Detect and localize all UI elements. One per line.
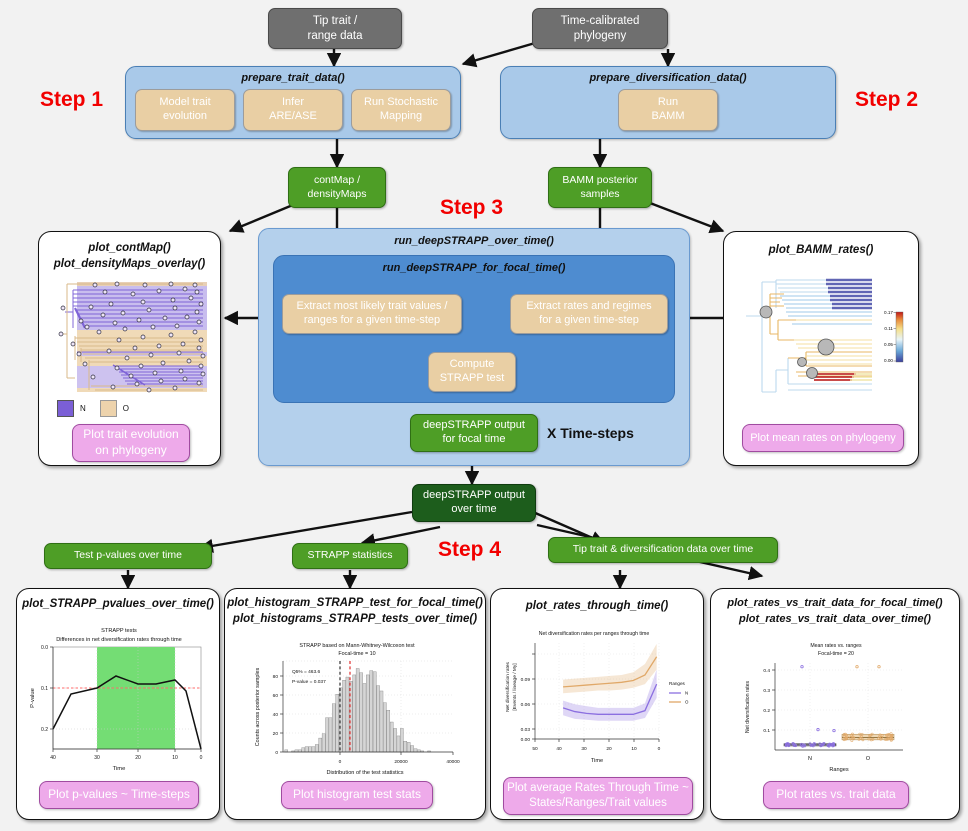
step-3-label: Step 3 xyxy=(440,196,503,220)
run-stochastic-mapping-box[interactable]: Run Stochastic Mapping xyxy=(351,89,451,131)
x-timesteps-label: X Time-steps xyxy=(547,425,634,441)
legend-label-n: N xyxy=(80,404,86,413)
prepare-diversification-data-group[interactable]: prepare_diversification_data() Run BAMM xyxy=(500,66,836,139)
svg-text:0.4: 0.4 xyxy=(763,668,770,674)
deepstrapp-focal-output-box[interactable]: deepSTRAPP output for focal time xyxy=(410,414,538,452)
svg-text:0.00: 0.00 xyxy=(521,737,531,743)
extract-trait-values-box[interactable]: Extract most likely trait values / range… xyxy=(282,294,462,334)
legend-swatch-n xyxy=(57,400,74,417)
svg-text:O: O xyxy=(685,700,689,705)
card-plot-contmap[interactable]: plot_contMap() plot_densityMaps_overlay(… xyxy=(38,231,221,466)
svg-text:0.2: 0.2 xyxy=(41,727,48,733)
histogram-annotation-2: P-value = 0.037 xyxy=(292,679,326,685)
svg-text:10: 10 xyxy=(172,755,178,761)
svg-text:0.3: 0.3 xyxy=(763,688,770,694)
prepare-trait-data-title: prepare_trait_data() xyxy=(126,72,460,84)
input-phylogeny-box[interactable]: Time-calibrated phylogeny xyxy=(532,8,668,49)
svg-text:0.1: 0.1 xyxy=(41,686,48,692)
step4-tip-trait-data-node[interactable]: Tip trait & diversification data over ti… xyxy=(548,537,778,563)
svg-text:80: 80 xyxy=(273,674,279,680)
prepare-diversification-data-title: prepare_diversification_data() xyxy=(501,72,835,84)
bamm-rates-phylogeny-plot: 0.17 0.11 0.05 0.00 xyxy=(736,274,908,399)
svg-text:0.09: 0.09 xyxy=(521,677,531,683)
rvt-title-2: plot_rates_vs_trait_data_over_time() xyxy=(711,613,959,625)
legend-label-o: O xyxy=(123,404,129,413)
card-plot-rates-through-time[interactable]: plot_rates_through_time() Net diversific… xyxy=(490,588,704,820)
svg-text:0.03: 0.03 xyxy=(521,727,531,733)
card-plot-strapp-pvalues[interactable]: plot_STRAPP_pvalues_over_time() STRAPP t… xyxy=(16,588,220,820)
svg-text:N: N xyxy=(808,756,812,762)
svg-text:40000: 40000 xyxy=(446,759,460,765)
svg-text:0: 0 xyxy=(275,750,278,756)
deepstrapp-over-time-output-box[interactable]: deepSTRAPP output over time xyxy=(412,484,536,522)
card-plot-bamm-rates[interactable]: plot_BAMM_rates() xyxy=(723,231,919,466)
svg-text:0.17: 0.17 xyxy=(884,310,893,315)
bamm-posterior-output-box[interactable]: BAMM posterior samples xyxy=(548,167,652,208)
rates-through-time-chart: Net diversification rates per ranges thr… xyxy=(499,625,699,773)
plot-contmap-title-1: plot_contMap() xyxy=(39,242,220,254)
infer-are-ase-box[interactable]: Infer ARE/ASE xyxy=(243,89,343,131)
rvt-ylabel: Net diversification rates xyxy=(745,681,751,733)
svg-text:0: 0 xyxy=(658,746,661,752)
rtt-action-button[interactable]: Plot average Rates Through Time ~ States… xyxy=(503,777,693,815)
svg-text:50: 50 xyxy=(532,746,538,752)
histogram-title-1: plot_histogram_STRAPP_test_for_focal_tim… xyxy=(225,597,485,609)
svg-text:N: N xyxy=(685,691,688,696)
pvalues-chart-subtitle: Differences in net diversification rates… xyxy=(56,637,182,643)
pvalues-chart: STRAPP tests Differences in net diversif… xyxy=(23,621,215,773)
rvt-action-button[interactable]: Plot rates vs. trait data xyxy=(763,781,909,809)
step4-strapp-statistics-node[interactable]: STRAPP statistics xyxy=(292,543,408,569)
rtt-legend-title: Ranges xyxy=(669,681,686,686)
svg-text:0.1: 0.1 xyxy=(763,728,770,734)
svg-text:0.00: 0.00 xyxy=(884,358,893,363)
rtt-title: plot_rates_through_time() xyxy=(491,600,703,612)
svg-text:10: 10 xyxy=(631,746,637,752)
rvt-xlabel: Ranges xyxy=(829,767,848,773)
pvalues-chart-title: STRAPP tests xyxy=(101,628,137,634)
svg-text:0: 0 xyxy=(200,755,203,761)
histogram-title-2: plot_histograms_STRAPP_tests_over_time() xyxy=(225,613,485,625)
svg-text:40: 40 xyxy=(50,755,56,761)
run-deepstrapp-over-time-title: run_deepSTRAPP_over_time() xyxy=(259,235,689,247)
svg-text:30: 30 xyxy=(94,755,100,761)
svg-text:20: 20 xyxy=(606,746,612,752)
pvalues-action-button[interactable]: Plot p-values ~ Time-steps xyxy=(39,781,199,809)
svg-text:0: 0 xyxy=(339,759,342,765)
svg-text:0.06: 0.06 xyxy=(521,702,531,708)
histogram-action-button[interactable]: Plot histogram test stats xyxy=(281,781,433,809)
svg-text:0.2: 0.2 xyxy=(763,708,770,714)
svg-text:0.11: 0.11 xyxy=(884,326,893,331)
card-plot-rates-vs-trait[interactable]: plot_rates_vs_trait_data_for_focal_time(… xyxy=(710,588,960,820)
histogram-chart: STRAPP based on Mann-Whitney-Wilcoxon te… xyxy=(247,637,463,777)
rtt-ylabel-1: Net diversification rates xyxy=(505,661,511,711)
input-tip-trait-box[interactable]: Tip trait / range data xyxy=(268,8,402,49)
rtt-ylabel-2: [Events / lineage / My] xyxy=(512,663,518,710)
svg-text:40: 40 xyxy=(273,712,279,718)
histogram-ylabel: Counts across posterior samples xyxy=(255,667,261,746)
step-4-label: Step 4 xyxy=(438,538,501,562)
contmap-output-box[interactable]: contMap / densityMaps xyxy=(288,167,386,208)
compute-strapp-test-box[interactable]: Compute STRAPP test xyxy=(428,352,516,392)
svg-text:20: 20 xyxy=(135,755,141,761)
card-plot-histogram-strapp[interactable]: plot_histogram_STRAPP_test_for_focal_tim… xyxy=(224,588,486,820)
plot-contmap-title-2: plot_densityMaps_overlay() xyxy=(39,258,220,270)
histogram-chart-title: STRAPP based on Mann-Whitney-Wilcoxon te… xyxy=(299,643,415,649)
rates-vs-trait-chart: Mean rates vs. ranges Focal-time = 20 0.… xyxy=(725,637,947,777)
rtt-xlabel: Time xyxy=(591,758,603,764)
svg-text:20: 20 xyxy=(273,731,279,737)
svg-text:0.05: 0.05 xyxy=(884,342,893,347)
rvt-chart-title: Mean rates vs. ranges xyxy=(810,643,862,649)
legend-swatch-o xyxy=(100,400,117,417)
rvt-title-1: plot_rates_vs_trait_data_for_focal_time(… xyxy=(711,597,959,609)
step4-test-pvalues-node[interactable]: Test p-values over time xyxy=(44,543,212,569)
contmap-phylogeny-plot xyxy=(55,282,207,392)
svg-text:20000: 20000 xyxy=(394,759,408,765)
bamm-action-button[interactable]: Plot mean rates on phylogeny xyxy=(742,424,904,452)
plot-bamm-rates-title: plot_BAMM_rates() xyxy=(724,244,918,256)
contmap-action-button[interactable]: Plot trait evolution on phylogeny xyxy=(72,424,190,462)
svg-text:O: O xyxy=(866,756,870,762)
prepare-trait-data-group[interactable]: prepare_trait_data() Model trait evoluti… xyxy=(125,66,461,139)
step-2-label: Step 2 xyxy=(855,88,918,112)
pvalues-title: plot_STRAPP_pvalues_over_time() xyxy=(17,598,219,610)
rtt-chart-title: Net diversification rates per ranges thr… xyxy=(539,631,650,637)
run-deepstrapp-focal-time-title: run_deepSTRAPP_for_focal_time() xyxy=(274,262,674,274)
contmap-legend: N O xyxy=(57,400,129,417)
run-bamm-box[interactable]: Run BAMM xyxy=(618,89,718,131)
extract-rates-regimes-box[interactable]: Extract rates and regimes for a given ti… xyxy=(510,294,668,334)
svg-text:0.0: 0.0 xyxy=(41,645,48,651)
pvalues-ylabel: P-value xyxy=(30,688,36,708)
histogram-annotation-1: Q5% = 463.6 xyxy=(292,669,320,675)
svg-text:60: 60 xyxy=(273,693,279,699)
histogram-xlabel: Distribution of the test statistics xyxy=(326,770,403,776)
svg-text:40: 40 xyxy=(556,746,562,752)
model-trait-evolution-box[interactable]: Model trait evolution xyxy=(135,89,235,131)
histogram-chart-subtitle: Focal-time = 10 xyxy=(338,651,375,657)
pvalues-xlabel: Time xyxy=(113,766,126,772)
rvt-chart-subtitle: Focal-time = 20 xyxy=(818,651,854,657)
svg-text:30: 30 xyxy=(581,746,587,752)
step-1-label: Step 1 xyxy=(40,88,103,112)
